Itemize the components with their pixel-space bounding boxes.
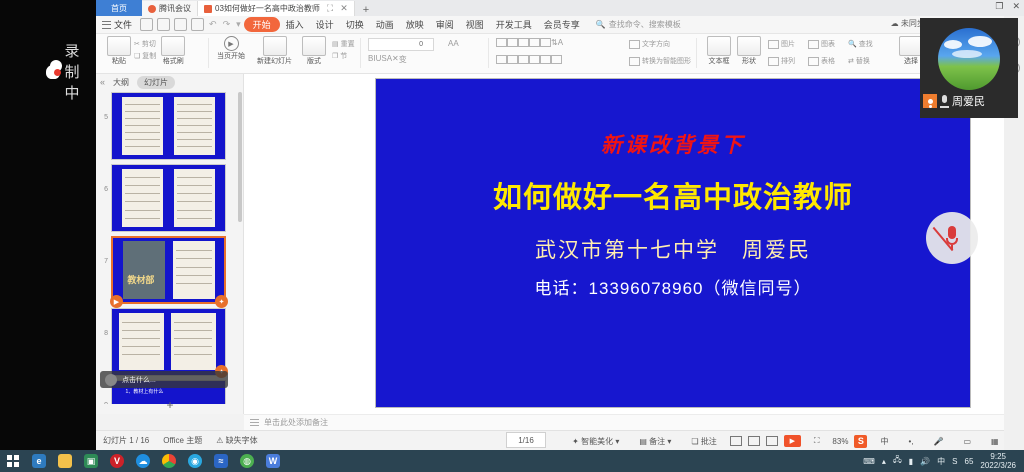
- reset-icon: ▤: [332, 40, 339, 48]
- person-icon: [923, 94, 937, 108]
- slide-phone[interactable]: 电话：13396078960（微信同号）: [376, 274, 970, 299]
- zoom-level-label[interactable]: 83%: [832, 437, 848, 446]
- chevron-down-icon[interactable]: ▾: [236, 19, 241, 30]
- volume-icon[interactable]: 🔊: [920, 457, 930, 466]
- clock-date: 2022/3/26: [980, 461, 1016, 470]
- editor-app-icon[interactable]: ≈: [208, 450, 234, 472]
- print-preview-icon[interactable]: [157, 18, 170, 31]
- wechat-icon[interactable]: ◍: [234, 450, 260, 472]
- fit-slide-icon[interactable]: ⛶: [807, 436, 827, 446]
- ime-toolbox-icon[interactable]: ▦: [984, 437, 1006, 446]
- layout-button[interactable]: 版式: [299, 36, 329, 66]
- tab-home[interactable]: 首页: [96, 0, 142, 16]
- missing-font-button[interactable]: ⚠ 缺失字体: [209, 435, 264, 446]
- menu-icon[interactable]: [102, 21, 111, 29]
- tab-outline[interactable]: 大纲: [113, 77, 129, 88]
- save-icon[interactable]: [140, 18, 153, 31]
- beautify-button[interactable]: ✦ 智能美化 ▾: [565, 436, 626, 447]
- notes-toggle-button[interactable]: ▤ 备注 ▾: [632, 436, 678, 447]
- status-bar: 幻灯片 1 / 16 Office 主题 ⚠ 缺失字体 1/16 ✦ 智能美化 …: [96, 430, 1024, 450]
- keyboard-icon[interactable]: ⌨: [863, 457, 875, 466]
- tab-presentation[interactable]: 03如何做好一名高中政治教师 ⛶ ✕: [198, 1, 355, 16]
- collapse-left-icon[interactable]: «: [100, 77, 105, 87]
- start-icon[interactable]: [0, 450, 26, 472]
- meeting-tab-strip: 首页 腾讯会议 03如何做好一名高中政治教师 ⛶ ✕ + ❐ ✕: [96, 0, 1024, 16]
- slide-subtitle[interactable]: 新课改背景下: [376, 129, 970, 159]
- slide-preview: 教材部 ▶ ✦: [111, 236, 226, 304]
- decrease-font-icon[interactable]: A: [453, 39, 458, 48]
- slide-title[interactable]: 如何做好一名高中政治教师: [376, 174, 970, 216]
- tab-meeting-label: 腾讯会议: [159, 3, 191, 14]
- animation-badge-count[interactable]: ✦: [215, 295, 228, 308]
- webcam-panel[interactable]: 周爱民: [920, 18, 1018, 118]
- pin-icon[interactable]: ⛶: [327, 3, 333, 14]
- editor-body: « 大纲 幻灯片 5: [96, 74, 1024, 414]
- find-icon: 🔍: [848, 40, 857, 48]
- ime-mode-label[interactable]: 中: [873, 436, 895, 447]
- ppt-doc-icon: [204, 5, 212, 13]
- play-icon[interactable]: ▶: [784, 435, 801, 447]
- slide-canvas[interactable]: 新课改背景下 如何做好一名高中政治教师 武汉市第十七中学 周爱民 电话：1339…: [375, 78, 971, 408]
- cloud-app-icon[interactable]: ☁: [130, 450, 156, 472]
- cloud-sync-icon: ☁: [891, 19, 899, 28]
- screen: 录制中 首页 腾讯会议 03如何做好一名高中政治教师 ⛶ ✕ + ❐ ✕: [0, 0, 1024, 472]
- textbook-cover-image: [123, 241, 165, 299]
- clock[interactable]: 9:25 2022/3/26: [980, 452, 1016, 470]
- bullet-list-icon[interactable]: [496, 38, 507, 47]
- file-explorer-icon[interactable]: [52, 450, 78, 472]
- file-menu[interactable]: 文件: [114, 18, 132, 31]
- toolbar-hint-label: 点击什么...: [122, 375, 156, 385]
- notes-toggle-icon: ▤: [639, 437, 647, 446]
- slide-sorter-icon[interactable]: [748, 436, 760, 446]
- ribbon-tab-review[interactable]: 审阅: [430, 17, 460, 32]
- comment-icon: ❏: [691, 437, 698, 446]
- decrease-indent-icon[interactable]: [518, 38, 529, 47]
- slide-author[interactable]: 武汉市第十七中学 周爱民: [376, 234, 970, 264]
- slide-preview: [111, 92, 226, 160]
- start-from-current-button[interactable]: ▶ 当页开始: [214, 36, 248, 61]
- new-slide-icon: [263, 36, 287, 56]
- recording-cloud-icon: [46, 65, 60, 79]
- slide-thumbnail-pane: « 大纲 幻灯片 5: [96, 74, 244, 414]
- close-window-icon[interactable]: ✕: [1012, 1, 1020, 12]
- windows-taskbar: e ▣ V ☁ ◉ ≈ ◍ W ⌨ ▴ 🖧 ▮ 🔊 中 S 65 9:25 20…: [0, 450, 1024, 472]
- window-controls: ❐ ✕: [995, 1, 1020, 12]
- scan-page-left: [119, 313, 164, 370]
- thumbnail-item[interactable]: 5: [96, 90, 244, 162]
- play-circle-icon: ▶: [224, 36, 239, 51]
- undo-icon[interactable]: ↶: [209, 19, 217, 30]
- participant-name: 周爱民: [952, 93, 985, 109]
- reset-button[interactable]: ▤重置: [332, 39, 355, 49]
- mic-muted-button[interactable]: [926, 212, 978, 264]
- font-size-input[interactable]: 0: [368, 38, 434, 51]
- align-left-icon[interactable]: [496, 55, 507, 64]
- numbered-list-icon[interactable]: [507, 38, 518, 47]
- find-button[interactable]: 🔍查找: [848, 39, 873, 49]
- status-right-group: ✦ 智能美化 ▾ ▤ 备注 ▾ ❏ 批注 ▶ ⛶ 83% S 中 •, 🎤 ▭ …: [565, 431, 1018, 451]
- mic-muted-icon: [945, 226, 959, 250]
- notes-icon: [250, 419, 259, 426]
- slide-number: 7: [98, 236, 108, 265]
- clock-time: 9:25: [980, 452, 1016, 461]
- arrow-up-icon[interactable]: ▴: [882, 457, 886, 466]
- layout-icon: [302, 36, 326, 56]
- format-painter-icon: [161, 36, 185, 56]
- search-doc-icon[interactable]: [191, 18, 204, 31]
- scan-page-left: [122, 169, 163, 227]
- theme-label[interactable]: Office 主题: [156, 435, 209, 446]
- ribbon-tab-transition[interactable]: 切换: [340, 17, 370, 32]
- text-box-icon: [707, 36, 731, 56]
- scan-page-right: [173, 241, 215, 299]
- recording-badge: 录制中: [46, 40, 96, 103]
- wps-icon[interactable]: W: [260, 450, 286, 472]
- clear-format-button[interactable]: ✕: [392, 54, 399, 63]
- chart-icon: [808, 40, 819, 49]
- text-direction-icon[interactable]: ⇅A: [551, 38, 563, 47]
- thumbnail-floating-toolbar[interactable]: 点击什么...: [100, 371, 228, 388]
- distribute-icon[interactable]: [540, 55, 551, 64]
- shape-button[interactable]: 形状: [734, 36, 764, 66]
- signal-icon[interactable]: ▮: [909, 457, 913, 466]
- slide-preview: ✦: [111, 308, 226, 376]
- chrome-icon[interactable]: [156, 450, 182, 472]
- copy-button[interactable]: ❏复制: [134, 51, 156, 61]
- recording-backdrop: 录制中: [0, 0, 96, 450]
- animation-badge-start[interactable]: ▶: [110, 295, 123, 308]
- align-right-icon[interactable]: [518, 55, 529, 64]
- scan-page-right: [174, 169, 215, 227]
- arrange-icon: [768, 57, 779, 66]
- redo-icon[interactable]: ↷: [223, 19, 231, 30]
- command-search[interactable]: 🔍 查找命令、搜索模板: [596, 19, 681, 30]
- shared-app-window: 首页 腾讯会议 03如何做好一名高中政治教师 ⛶ ✕ + ❐ ✕ 文件: [96, 0, 1024, 450]
- tab-presentation-label: 03如何做好一名高中政治教师: [215, 3, 320, 14]
- slide-number: 6: [98, 164, 108, 193]
- comments-button[interactable]: ❏ 批注: [684, 436, 723, 447]
- normal-view-icon[interactable]: [730, 436, 742, 446]
- scan-page-left: [122, 97, 163, 155]
- ime-keyboard-icon[interactable]: ▭: [956, 437, 978, 446]
- internet-explorer-icon[interactable]: e: [26, 450, 52, 472]
- thumbnail-list[interactable]: 5 6: [96, 90, 244, 404]
- slide-text-preview: 1、教材上有什么: [126, 388, 164, 395]
- justify-icon[interactable]: [529, 55, 540, 64]
- ime-tray-label[interactable]: 中: [937, 456, 945, 467]
- text-direction-button[interactable]: 文字方向: [629, 39, 670, 49]
- chart-button[interactable]: 图表: [808, 39, 835, 49]
- picture-button[interactable]: 图片: [768, 39, 795, 49]
- textbook-cover-text: 教材部: [127, 273, 154, 286]
- slide-canvas-area: 新课改背景下 如何做好一名高中政治教师 武汉市第十七中学 周爱民 电话：1339…: [244, 74, 1024, 414]
- sogou-ime-icon[interactable]: S: [854, 435, 867, 448]
- slide-preview: [111, 164, 226, 232]
- thumbnail-item[interactable]: 6: [96, 162, 244, 234]
- section-icon: ❐: [332, 52, 338, 60]
- ribbon-tab-member[interactable]: 会员专享: [538, 17, 586, 32]
- cut-icon: ✂: [134, 40, 140, 48]
- sparkle-icon: ✦: [572, 437, 579, 446]
- reading-view-icon[interactable]: [766, 436, 778, 446]
- print-icon[interactable]: [174, 18, 187, 31]
- ime-punct-icon[interactable]: •,: [901, 437, 920, 446]
- notes-pane[interactable]: 单击此处添加备注: [244, 414, 1024, 430]
- add-slide-button[interactable]: +: [96, 398, 244, 412]
- columns-icon[interactable]: [551, 55, 562, 64]
- meeting-icon: [148, 5, 156, 13]
- arrange-button[interactable]: 排列: [768, 56, 795, 66]
- toolbar-action-icon[interactable]: [105, 374, 117, 386]
- system-tray: ⌨ ▴ 🖧 ▮ 🔊 中 S 65 9:25 2022/3/26: [863, 450, 1024, 472]
- smartart-icon: [629, 57, 640, 66]
- table-icon: [808, 57, 819, 66]
- thumbnail-pane-header: « 大纲 幻灯片: [96, 74, 243, 90]
- text-effect-button[interactable]: 变: [399, 54, 407, 65]
- ribbon-tab-bar: 文件 ↶ ↷ ▾ 开始 插入 设计 切换 动画 放映 审阅 视图 开发工具 会员…: [96, 16, 1024, 34]
- meeting-app-icon[interactable]: ◉: [182, 450, 208, 472]
- format-painter-button[interactable]: 格式刷: [158, 36, 188, 66]
- tab-slides[interactable]: 幻灯片: [137, 76, 175, 89]
- picture-icon: [768, 40, 779, 49]
- replace-button[interactable]: ⇄替换: [848, 56, 870, 66]
- ribbon-tab-developer[interactable]: 开发工具: [490, 17, 538, 32]
- notes-placeholder: 单击此处添加备注: [264, 417, 328, 428]
- search-icon: 🔍: [596, 20, 606, 29]
- ime-voice-icon[interactable]: 🎤: [926, 437, 950, 446]
- restore-window-icon[interactable]: ❐: [995, 1, 1003, 12]
- mic-icon: [940, 95, 949, 108]
- thumbnail-item-selected[interactable]: 7 教材部 ▶ ✦: [96, 234, 244, 306]
- copy-icon: ❏: [134, 52, 140, 60]
- align-center-icon[interactable]: [507, 55, 518, 64]
- ribbon-tab-animation[interactable]: 动画: [370, 17, 400, 32]
- scan-page-right: [171, 313, 216, 370]
- font-warning-icon: ⚠: [216, 436, 223, 445]
- table-button[interactable]: 表格: [808, 56, 835, 66]
- slide-number: 5: [98, 92, 108, 121]
- slide-number: 8: [98, 308, 108, 337]
- network-icon[interactable]: 🖧: [893, 454, 902, 468]
- ribbon-tab-design[interactable]: 设计: [310, 17, 340, 32]
- thumbnail-scrollbar[interactable]: [238, 92, 242, 222]
- text-box-button[interactable]: 文本框: [704, 36, 734, 66]
- sogou-tray-icon[interactable]: S: [952, 457, 957, 466]
- page-indicator[interactable]: 1/16: [506, 432, 546, 448]
- paste-button[interactable]: 粘贴: [104, 36, 134, 66]
- store-icon[interactable]: ▣: [78, 450, 104, 472]
- ribbon-toolbar: 粘贴 ✂剪切 ❏复制 格式刷 ▶ 当页开始 新建: [96, 34, 1024, 74]
- paste-icon: [107, 36, 131, 56]
- section-button[interactable]: ❐节: [332, 51, 355, 61]
- new-tab-button[interactable]: +: [355, 4, 377, 16]
- new-slide-button[interactable]: 新建幻灯片: [254, 36, 295, 66]
- ribbon-tab-start[interactable]: 开始: [244, 17, 280, 32]
- line-spacing-icon[interactable]: [540, 38, 551, 47]
- recording-label: 录制中: [64, 40, 96, 103]
- convert-smartart-button[interactable]: 转换为智能图形: [629, 56, 691, 66]
- close-tab-icon[interactable]: ✕: [340, 3, 348, 14]
- shape-icon: [737, 36, 761, 56]
- slide-count-label: 幻灯片 1 / 16: [96, 435, 156, 446]
- ribbon-tab-view[interactable]: 视图: [460, 17, 490, 32]
- webcam-label-bar: 周爱民: [920, 92, 1018, 110]
- ribbon-tab-slideshow[interactable]: 放映: [400, 17, 430, 32]
- thumbnail-item[interactable]: 8 ✦: [96, 306, 244, 378]
- v-app-icon[interactable]: V: [104, 450, 130, 472]
- scan-page-right: [174, 97, 215, 155]
- text-direction-box-icon: [629, 40, 640, 49]
- increase-indent-icon[interactable]: [529, 38, 540, 47]
- cut-button[interactable]: ✂剪切: [134, 39, 156, 49]
- command-search-placeholder: 查找命令、搜索模板: [609, 19, 681, 30]
- replace-icon: ⇄: [848, 57, 854, 65]
- tab-meeting[interactable]: 腾讯会议: [142, 1, 198, 16]
- avatar: [938, 28, 1000, 90]
- battery-badge[interactable]: 65: [965, 457, 974, 466]
- ribbon-tab-insert[interactable]: 插入: [280, 17, 310, 32]
